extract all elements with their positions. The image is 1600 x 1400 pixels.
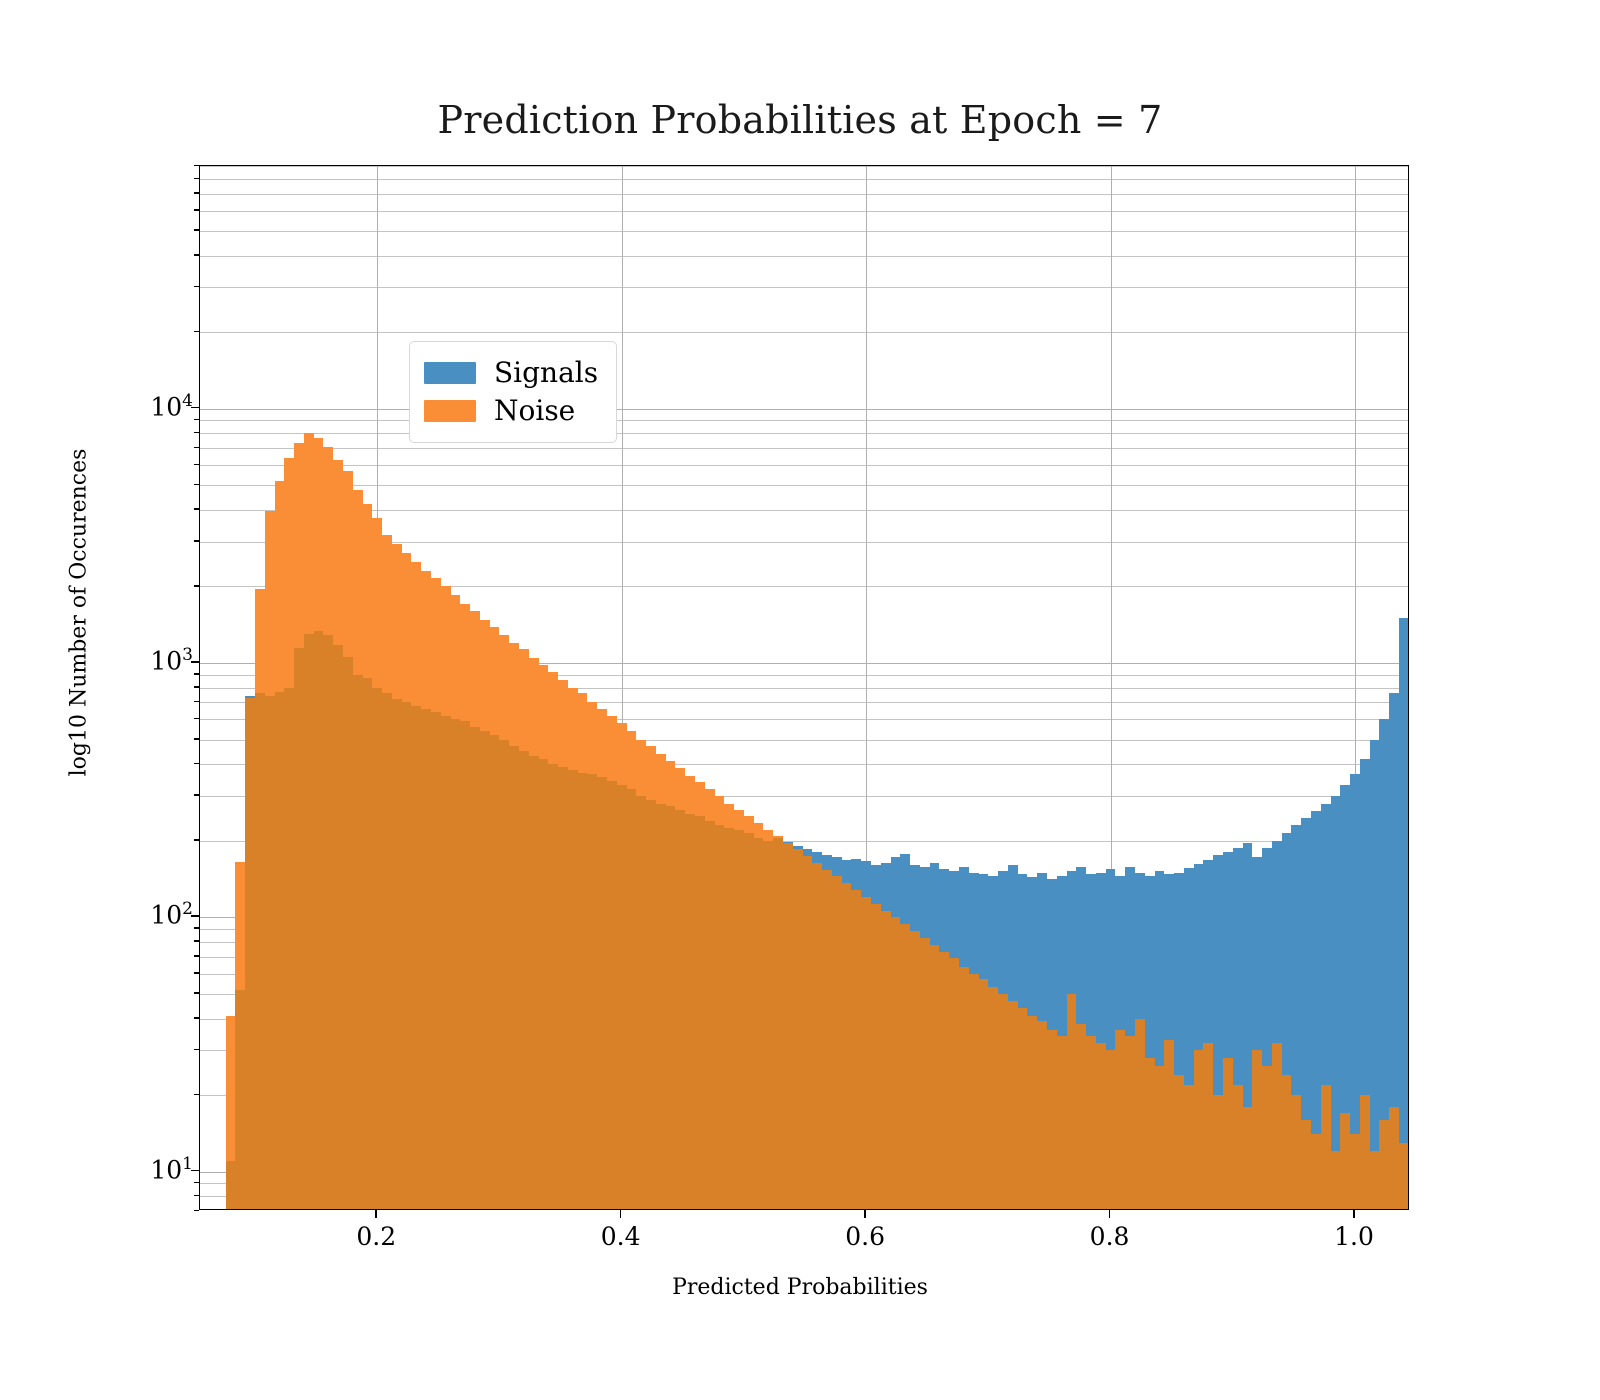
y-tick-mark-minor [194, 955, 199, 957]
bar-overlap [695, 816, 705, 1210]
bar-overlap [861, 897, 871, 1210]
bar-signal [1331, 796, 1341, 1210]
bar-overlap [548, 764, 558, 1210]
bar-overlap [949, 958, 959, 1210]
bar-overlap [803, 856, 813, 1210]
y-tick-mark-minor [194, 763, 199, 765]
bar-overlap [1106, 1050, 1116, 1210]
bar-overlap [402, 702, 412, 1210]
bar-overlap [1174, 1075, 1184, 1210]
y-tick-mark-minor [194, 464, 199, 466]
bar-overlap [822, 870, 832, 1210]
x-axis-label: Predicted Probabilities [0, 1275, 1600, 1300]
bar-overlap [1321, 1085, 1331, 1210]
bar-overlap [675, 810, 685, 1210]
bar-overlap [1262, 1066, 1272, 1210]
bar-overlap [245, 698, 255, 1210]
y-tick-mark-minor [194, 1195, 199, 1197]
y-tick-mark-minor [194, 839, 199, 841]
bar-overlap [920, 938, 930, 1210]
bar-overlap [793, 849, 803, 1210]
y-tick-mark-minor [194, 419, 199, 421]
bar-overlap [1340, 1113, 1350, 1210]
y-tick-label: 102 [150, 899, 193, 929]
x-tick-mark [620, 1210, 622, 1218]
bar-overlap [392, 699, 402, 1210]
legend-item-noise[interactable]: Noise [424, 392, 598, 430]
bar-overlap [1379, 1120, 1389, 1210]
bar-overlap [353, 675, 363, 1210]
bar-overlap [431, 712, 441, 1210]
bar-overlap [1203, 1043, 1213, 1210]
bar-overlap [1076, 1024, 1086, 1210]
bar-overlap [597, 777, 607, 1210]
bar-overlap [255, 693, 265, 1210]
bar-overlap [1350, 1134, 1360, 1210]
y-tick-mark-minor [194, 585, 199, 587]
bar-overlap [1282, 1075, 1292, 1210]
bar-overlap [744, 833, 754, 1210]
x-tick-mark [375, 1210, 377, 1218]
bar-overlap [1047, 1030, 1057, 1210]
bar-overlap [460, 721, 470, 1210]
bar-overlap [363, 678, 373, 1210]
bar-overlap [763, 841, 773, 1210]
bar-overlap [1145, 1058, 1155, 1210]
bar-overlap [411, 706, 421, 1210]
bar-overlap [1184, 1085, 1194, 1210]
y-tick-mark-minor [194, 701, 199, 703]
bar-overlap [1164, 1040, 1174, 1210]
bar-overlap [314, 631, 324, 1210]
y-tick-mark-minor [194, 972, 199, 974]
bar-overlap [773, 838, 783, 1210]
bar-overlap [539, 759, 549, 1210]
bar-overlap [1008, 1001, 1018, 1210]
bar-overlap [1037, 1021, 1047, 1210]
bar-overlap [1252, 1050, 1262, 1210]
bar-overlap [1125, 1036, 1135, 1210]
bar-overlap [451, 719, 461, 1210]
bar-overlap [705, 821, 715, 1210]
bar-overlap [998, 994, 1008, 1210]
legend: Signals Noise [409, 341, 617, 443]
bar-overlap [930, 945, 940, 1210]
y-tick-mark-minor [194, 1094, 199, 1096]
bar-overlap [871, 904, 881, 1210]
y-tick-mark-minor [194, 794, 199, 796]
y-tick-mark-minor [194, 484, 199, 486]
bar-overlap [851, 890, 861, 1210]
bar-overlap [275, 692, 285, 1210]
bar-overlap [1370, 1151, 1380, 1210]
y-tick-mark-minor [194, 432, 199, 434]
bar-overlap [1331, 1151, 1341, 1210]
y-tick-mark-minor [194, 718, 199, 720]
bar-overlap [1027, 1016, 1037, 1210]
x-tick-label: 0.2 [356, 1222, 396, 1251]
legend-label-noise: Noise [494, 397, 575, 425]
y-tick-mark-minor [194, 254, 199, 256]
bar-overlap [441, 716, 451, 1210]
bar-overlap [578, 773, 588, 1210]
bar-overlap [323, 635, 333, 1210]
y-tick-mark-minor [194, 178, 199, 180]
y-tick-mark-minor [194, 209, 199, 211]
y-tick-mark-minor [194, 738, 199, 740]
bar-overlap [959, 967, 969, 1210]
y-tick-mark-minor [194, 673, 199, 675]
y-tick-mark-minor [194, 1210, 199, 1212]
bar-overlap [499, 740, 509, 1210]
y-tick-mark-minor [194, 286, 199, 288]
bar-overlap [480, 731, 490, 1210]
bar-overlap [1115, 1030, 1125, 1210]
bar-overlap [734, 830, 744, 1210]
x-tick-mark [1109, 1210, 1111, 1218]
bar-overlap [421, 709, 431, 1210]
histogram-bars [200, 166, 1408, 1209]
bar-overlap [656, 804, 666, 1210]
bar-overlap [842, 883, 852, 1210]
y-tick-mark-minor [194, 192, 199, 194]
figure-canvas: Prediction Probabilities at Epoch = 7 Si… [0, 0, 1600, 1400]
bar-overlap [900, 924, 910, 1210]
x-tick-mark [1353, 1210, 1355, 1218]
x-tick-label: 1.0 [1334, 1222, 1374, 1251]
bar-overlap [1096, 1043, 1106, 1210]
bar-overlap [1301, 1120, 1311, 1210]
bar-overlap [1243, 1107, 1253, 1210]
y-tick-label: 104 [150, 391, 193, 421]
bar-overlap [1213, 1095, 1223, 1210]
bar-overlap [1399, 1143, 1409, 1210]
bar-overlap [646, 800, 656, 1210]
y-axis-label: log10 Number of Occurences [67, 333, 92, 893]
bar-overlap [1233, 1085, 1243, 1210]
legend-swatch-signals [424, 362, 476, 384]
bar-overlap [607, 781, 617, 1210]
x-tick-label: 0.6 [845, 1222, 885, 1251]
bar-overlap [1194, 1050, 1204, 1210]
bar-overlap [627, 789, 637, 1210]
y-tick-mark-minor [194, 1182, 199, 1184]
bar-overlap [1291, 1095, 1301, 1210]
bar-overlap [1057, 1036, 1067, 1210]
bar-overlap [969, 974, 979, 1210]
y-tick-mark-minor [194, 992, 199, 994]
bar-overlap [1223, 1058, 1233, 1210]
y-tick-mark-minor [194, 1017, 199, 1019]
bar-overlap [910, 931, 920, 1210]
bar-overlap [617, 785, 627, 1210]
bar-overlap [509, 746, 519, 1210]
bar-overlap [1272, 1043, 1282, 1210]
bar-signal [1399, 618, 1409, 1210]
bar-signal [1370, 740, 1380, 1210]
bar-overlap [939, 952, 949, 1210]
bar-overlap [235, 990, 245, 1210]
bar-overlap [284, 688, 294, 1210]
x-tick-mark [864, 1210, 866, 1218]
bar-overlap [265, 696, 275, 1211]
y-tick-mark-minor [194, 331, 199, 333]
y-tick-label: 103 [150, 645, 193, 675]
bar-overlap [636, 796, 646, 1210]
bar-overlap [783, 843, 793, 1210]
y-tick-mark-minor [194, 229, 199, 231]
bar-overlap [372, 688, 382, 1210]
y-tick-mark-minor [194, 508, 199, 510]
bar-overlap [294, 648, 304, 1210]
bar-overlap [881, 911, 891, 1210]
bar-overlap [1067, 994, 1077, 1210]
y-tick-mark-minor [194, 540, 199, 542]
bar-overlap [226, 1161, 236, 1210]
y-tick-mark-minor [194, 165, 199, 167]
y-tick-label: 101 [150, 1154, 193, 1184]
bar-overlap [812, 863, 822, 1210]
bar-overlap [1155, 1066, 1165, 1210]
y-tick-mark-minor [194, 940, 199, 942]
bar-overlap [1018, 1008, 1028, 1210]
bar-overlap [490, 735, 500, 1210]
bar-overlap [715, 825, 725, 1210]
bar-overlap [754, 838, 764, 1210]
bar-overlap [333, 645, 343, 1210]
y-tick-mark-minor [194, 1049, 199, 1051]
bar-overlap [558, 767, 568, 1210]
bar-overlap [988, 987, 998, 1210]
legend-swatch-noise [424, 400, 476, 422]
y-tick-mark-minor [194, 927, 199, 929]
bar-overlap [568, 770, 578, 1210]
bar-overlap [470, 727, 480, 1210]
bar-overlap [382, 693, 392, 1210]
bar-overlap [1135, 1019, 1145, 1211]
y-tick-mark-minor [194, 686, 199, 688]
y-tick-mark-minor [194, 447, 199, 449]
plot-area: Signals Noise [199, 165, 1409, 1210]
bar-overlap [1360, 1095, 1370, 1210]
bar-overlap [1086, 1036, 1096, 1210]
bar-overlap [529, 756, 539, 1210]
bar-overlap [1311, 1134, 1321, 1210]
x-tick-label: 0.4 [601, 1222, 641, 1251]
bar-overlap [979, 979, 989, 1210]
bar-overlap [587, 774, 597, 1210]
bar-overlap [1389, 1107, 1399, 1210]
bar-overlap [304, 634, 314, 1210]
bar-overlap [519, 751, 529, 1210]
legend-label-signals: Signals [494, 359, 598, 387]
bar-overlap [666, 806, 676, 1210]
bar-overlap [891, 917, 901, 1210]
x-tick-label: 0.8 [1090, 1222, 1130, 1251]
legend-item-signals[interactable]: Signals [424, 354, 598, 392]
page-title: Prediction Probabilities at Epoch = 7 [0, 98, 1600, 142]
bar-overlap [343, 657, 353, 1210]
bar-overlap [832, 876, 842, 1210]
bar-overlap [724, 828, 734, 1210]
bar-overlap [685, 814, 695, 1210]
